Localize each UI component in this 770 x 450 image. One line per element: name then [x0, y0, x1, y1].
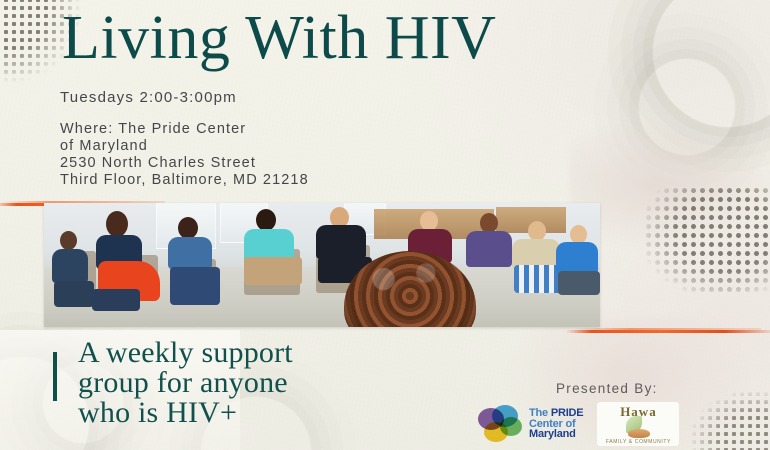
- tagline: A weekly support group for anyone who is…: [78, 338, 293, 428]
- photo-person-9: [556, 225, 600, 293]
- tagline-line-2: group for anyone: [78, 368, 293, 398]
- location-line-1: Where: The Pride Center: [60, 121, 309, 138]
- photo-person-4: [236, 209, 304, 301]
- tagline-line-3: who is HIV+: [78, 398, 293, 428]
- location-line-3: 2530 North Charles Street: [60, 155, 309, 172]
- schedule-text: Tuesdays 2:00-3:00pm: [60, 90, 309, 105]
- dot-cluster-bottom-right: [690, 390, 770, 450]
- tagline-accent-bar: [53, 352, 57, 401]
- dot-cluster-right: [644, 186, 770, 296]
- hawa-leaf-hands-icon: [620, 416, 656, 438]
- photo-person-2: [88, 211, 160, 311]
- photo-person-3: [162, 217, 222, 311]
- tagline-line-1: A weekly support: [78, 338, 293, 368]
- pride-center-logo: The PRIDE Center of Maryland: [478, 404, 583, 444]
- page-title: Living With HIV: [62, 6, 496, 72]
- pride-rings-icon: [478, 404, 524, 444]
- poster-canvas: Living With HIV Tuesdays 2:00-3:00pm Whe…: [0, 0, 770, 450]
- support-group-photo: [44, 203, 600, 327]
- sponsor-logos: The PRIDE Center of Maryland Hawa FAMILY…: [478, 402, 679, 446]
- pride-wordmark-line-3: Maryland: [529, 429, 583, 440]
- hawa-subtitle: FAMILY & COMMUNITY: [606, 439, 671, 445]
- presented-by-label: Presented By:: [556, 381, 658, 396]
- accent-rule-right: [566, 330, 770, 333]
- photo-content: [44, 203, 600, 327]
- location-line-2: of Maryland: [60, 138, 309, 155]
- hawa-logo: Hawa FAMILY & COMMUNITY: [597, 402, 679, 446]
- pride-wordmark: The PRIDE Center of Maryland: [529, 408, 583, 440]
- event-details: Tuesdays 2:00-3:00pm Where: The Pride Ce…: [60, 90, 309, 189]
- location-line-4: Third Floor, Baltimore, MD 21218: [60, 172, 309, 189]
